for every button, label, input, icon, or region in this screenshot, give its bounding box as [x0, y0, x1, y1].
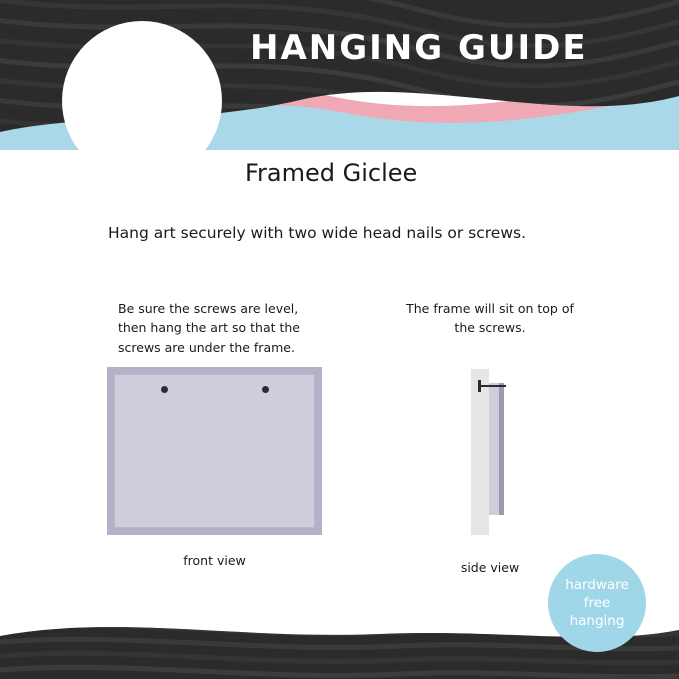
side-view-frame — [489, 383, 499, 515]
hanging-guide-page: HANGING GUIDE STUPELL HOME DECOR Framed … — [0, 0, 679, 679]
front-view-caption: Be sure the screws are level, then hang … — [118, 299, 328, 357]
badge-line-2: free — [565, 594, 629, 612]
screw-right-icon — [262, 386, 269, 393]
side-view-screw-icon — [480, 385, 506, 387]
side-view-screw-head-icon — [478, 380, 481, 392]
product-type: Framed Giclee — [245, 159, 417, 187]
screw-left-icon — [161, 386, 168, 393]
side-view-label: side view — [395, 560, 585, 575]
front-view-frame — [107, 367, 322, 535]
front-view-artwork — [114, 374, 315, 528]
front-view-label: front view — [107, 553, 322, 568]
badge-line-1: hardware — [565, 576, 629, 594]
side-view-wall — [471, 369, 489, 535]
logo-badge — [62, 21, 222, 181]
badge-line-3: hanging — [565, 612, 629, 630]
instruction-text: Hang art securely with two wide head nai… — [108, 224, 588, 242]
side-view-caption: The frame will sit on top of the screws. — [395, 299, 585, 338]
hardware-free-badge: hardware free hanging — [548, 554, 646, 652]
page-title: HANGING GUIDE — [250, 28, 588, 68]
badge-text: hardware free hanging — [565, 576, 629, 631]
